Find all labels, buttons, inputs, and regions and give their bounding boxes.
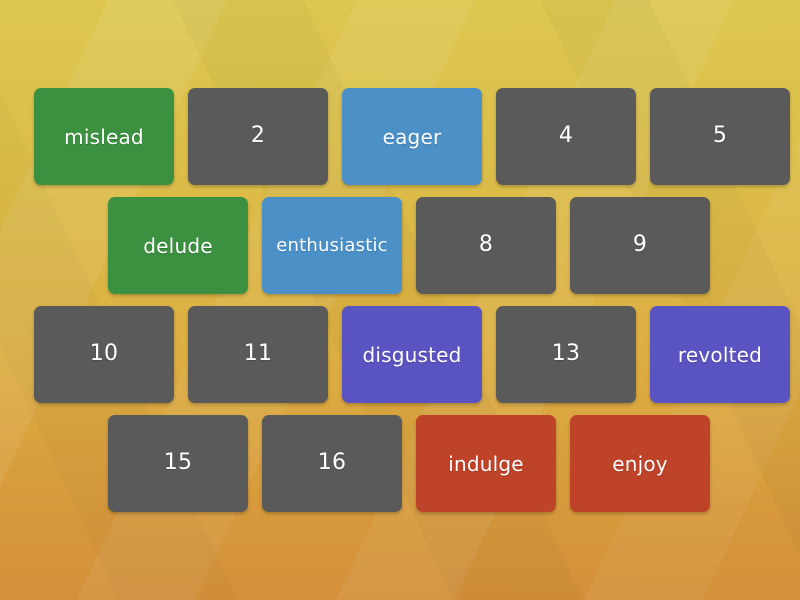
tile-label: mislead (64, 126, 144, 148)
tile-grid: mislead2eager45deludeenthusiastic891011d… (0, 0, 800, 600)
tile-row: 1011disgusted13revolted (34, 306, 790, 403)
tile-label: enjoy (612, 453, 668, 475)
tile-label: revolted (678, 344, 762, 366)
tile-label: disgusted (362, 344, 461, 366)
tile-label: 9 (633, 233, 647, 257)
tile-revealed[interactable]: enthusiastic (262, 197, 402, 294)
tile-hidden[interactable]: 2 (188, 88, 328, 185)
tile-revealed[interactable]: indulge (416, 415, 556, 512)
tile-hidden[interactable]: 9 (570, 197, 710, 294)
tile-label: 4 (559, 124, 573, 148)
tile-revealed[interactable]: enjoy (570, 415, 710, 512)
tile-revealed[interactable]: mislead (34, 88, 174, 185)
tile-hidden[interactable]: 15 (108, 415, 248, 512)
tile-revealed[interactable]: eager (342, 88, 482, 185)
tile-hidden[interactable]: 16 (262, 415, 402, 512)
tile-label: 13 (552, 342, 580, 366)
tile-label: 8 (479, 233, 493, 257)
tile-revealed[interactable]: disgusted (342, 306, 482, 403)
tile-label: 5 (713, 124, 727, 148)
tile-label: 11 (244, 342, 272, 366)
tile-row: mislead2eager45 (34, 88, 790, 185)
tile-revealed[interactable]: revolted (650, 306, 790, 403)
tile-row: deludeenthusiastic89 (108, 197, 710, 294)
tile-hidden[interactable]: 13 (496, 306, 636, 403)
tile-hidden[interactable]: 5 (650, 88, 790, 185)
tile-row: 1516indulgeenjoy (108, 415, 710, 512)
tile-hidden[interactable]: 10 (34, 306, 174, 403)
tile-label: eager (383, 126, 442, 148)
tile-label: enthusiastic (276, 236, 388, 256)
game-board: mislead2eager45deludeenthusiastic891011d… (0, 0, 800, 600)
tile-hidden[interactable]: 4 (496, 88, 636, 185)
tile-revealed[interactable]: delude (108, 197, 248, 294)
tile-label: indulge (448, 453, 524, 475)
tile-label: 2 (251, 124, 265, 148)
tile-label: 10 (90, 342, 118, 366)
tile-label: 15 (164, 451, 192, 475)
tile-hidden[interactable]: 11 (188, 306, 328, 403)
tile-label: delude (143, 235, 212, 257)
tile-hidden[interactable]: 8 (416, 197, 556, 294)
tile-label: 16 (318, 451, 346, 475)
